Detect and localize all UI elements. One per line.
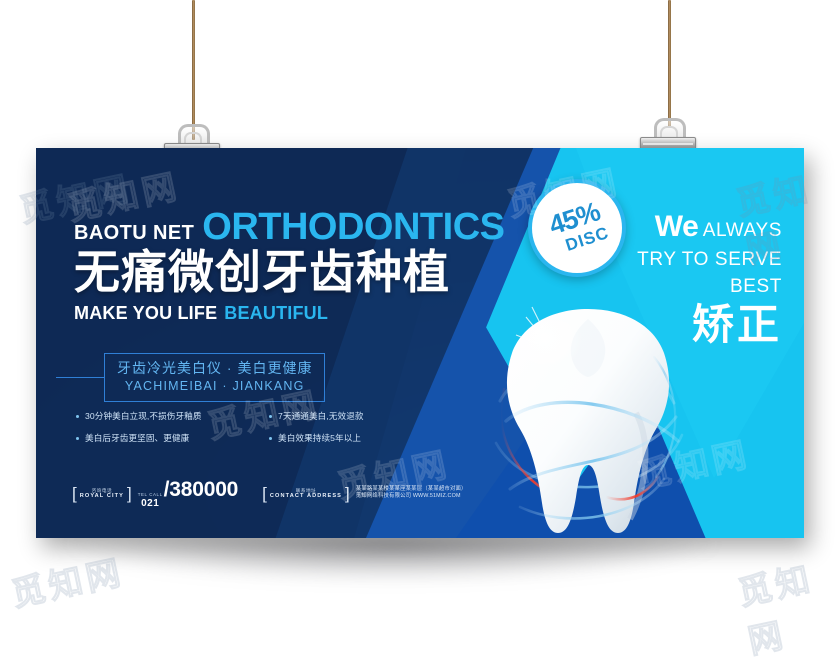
- bracket-close: ]: [345, 485, 350, 502]
- bracket-open: [: [262, 485, 267, 502]
- subtitle-english: YACHIMEIBAI · JIANKANG: [117, 378, 312, 395]
- list-item: 30分钟美白立现,不损伤牙釉质: [76, 410, 263, 422]
- slogan-chinese: 矫正: [552, 302, 782, 348]
- hanging-rope-right: [668, 0, 671, 128]
- address-text: 某某路某某楼某某座某某层（某某超市对面） 觅知网络科技有限公司 WWW.51MI…: [356, 486, 467, 502]
- headline-chinese: 无痛微创牙齿种植: [74, 247, 494, 299]
- list-item: 美白效果持续5年以上: [269, 432, 456, 444]
- address-line-2: 觅知网络科技有限公司 WWW.51MIZ.COM: [356, 493, 467, 501]
- list-item: 美白后牙齿更坚固、更健康: [76, 432, 263, 444]
- slogan-line-1: We ALWAYS: [552, 210, 782, 244]
- bracket-close: ]: [127, 485, 132, 502]
- area-code: 021: [141, 498, 159, 509]
- phone-label-bracket: [ 咨询电话 ROYAL CITY ]: [72, 485, 132, 502]
- address-group: [ 联系地址 CONTACT ADDRESS ] 某某路某某楼某某座某某层（某某…: [262, 485, 466, 502]
- address-label-en: CONTACT ADDRESS: [270, 493, 342, 499]
- subtitle-chinese: 牙齿冷光美白仪 · 美白更健康: [117, 359, 312, 378]
- banner-drop-shadow: [50, 536, 810, 614]
- phone-number: /380000: [164, 478, 239, 502]
- contact-footer: [ 咨询电话 ROYAL CITY ] TEL CALL 021 /380000: [72, 478, 472, 509]
- bullet-text: 30分钟美白立现,不损伤牙釉质: [85, 410, 202, 422]
- tagline-accent: BEAUTIFUL: [224, 303, 328, 324]
- address-label-bracket: [ 联系地址 CONTACT ADDRESS ]: [262, 485, 350, 502]
- tagline-white: MAKE YOU LIFE: [74, 303, 217, 324]
- right-slogan-block: We ALWAYS TRY TO SERVE BEST 矫正: [552, 210, 782, 348]
- feature-bullet-list: 30分钟美白立现,不损伤牙釉质 7天通通美白,无效退款 美白后牙齿更坚固、更健康…: [76, 410, 456, 444]
- poster-banner: BAOTU NET ORTHODONTICS 无痛微创牙齿种植 MAKE YOU…: [36, 148, 804, 538]
- bracket-open: [: [72, 485, 77, 502]
- phone-number-group: TEL CALL 021 /380000: [138, 478, 238, 509]
- slogan-line-2: TRY TO SERVE: [552, 249, 782, 271]
- bullet-dot-icon: [76, 437, 79, 440]
- bullet-text: 美白效果持续5年以上: [278, 432, 361, 444]
- subtitle-box: 牙齿冷光美白仪 · 美白更健康 YACHIMEIBAI · JIANKANG: [104, 353, 325, 402]
- headline-english: ORTHODONTICS: [202, 208, 504, 246]
- bullet-dot-icon: [269, 415, 272, 418]
- bullet-dot-icon: [76, 415, 79, 418]
- phone-label-en: ROYAL CITY: [80, 493, 124, 499]
- tagline-line: MAKE YOU LIFE BEAUTIFUL: [74, 303, 494, 324]
- hanging-rope-left: [192, 0, 195, 140]
- slogan-always: ALWAYS: [703, 220, 782, 241]
- slogan-we: We: [655, 210, 698, 243]
- headline-top-line: BAOTU NET ORTHODONTICS: [74, 208, 494, 246]
- bullet-text: 7天通通美白,无效退款: [278, 410, 364, 422]
- brand-prefix: BAOTU NET: [74, 222, 194, 245]
- subtitle-rule: [56, 377, 104, 378]
- list-item: 7天通通美白,无效退款: [269, 410, 456, 422]
- headline-block: BAOTU NET ORTHODONTICS 无痛微创牙齿种植 MAKE YOU…: [74, 208, 494, 324]
- slogan-line-3: BEST: [552, 276, 782, 298]
- bullet-dot-icon: [269, 437, 272, 440]
- bullet-text: 美白后牙齿更坚固、更健康: [85, 432, 189, 444]
- subtitle-block: 牙齿冷光美白仪 · 美白更健康 YACHIMEIBAI · JIANKANG: [56, 353, 476, 402]
- poster-canvas: BAOTU NET ORTHODONTICS 无痛微创牙齿种植 MAKE YOU…: [0, 0, 840, 630]
- phone-group: [ 咨询电话 ROYAL CITY ] TEL CALL 021 /380000: [72, 478, 238, 509]
